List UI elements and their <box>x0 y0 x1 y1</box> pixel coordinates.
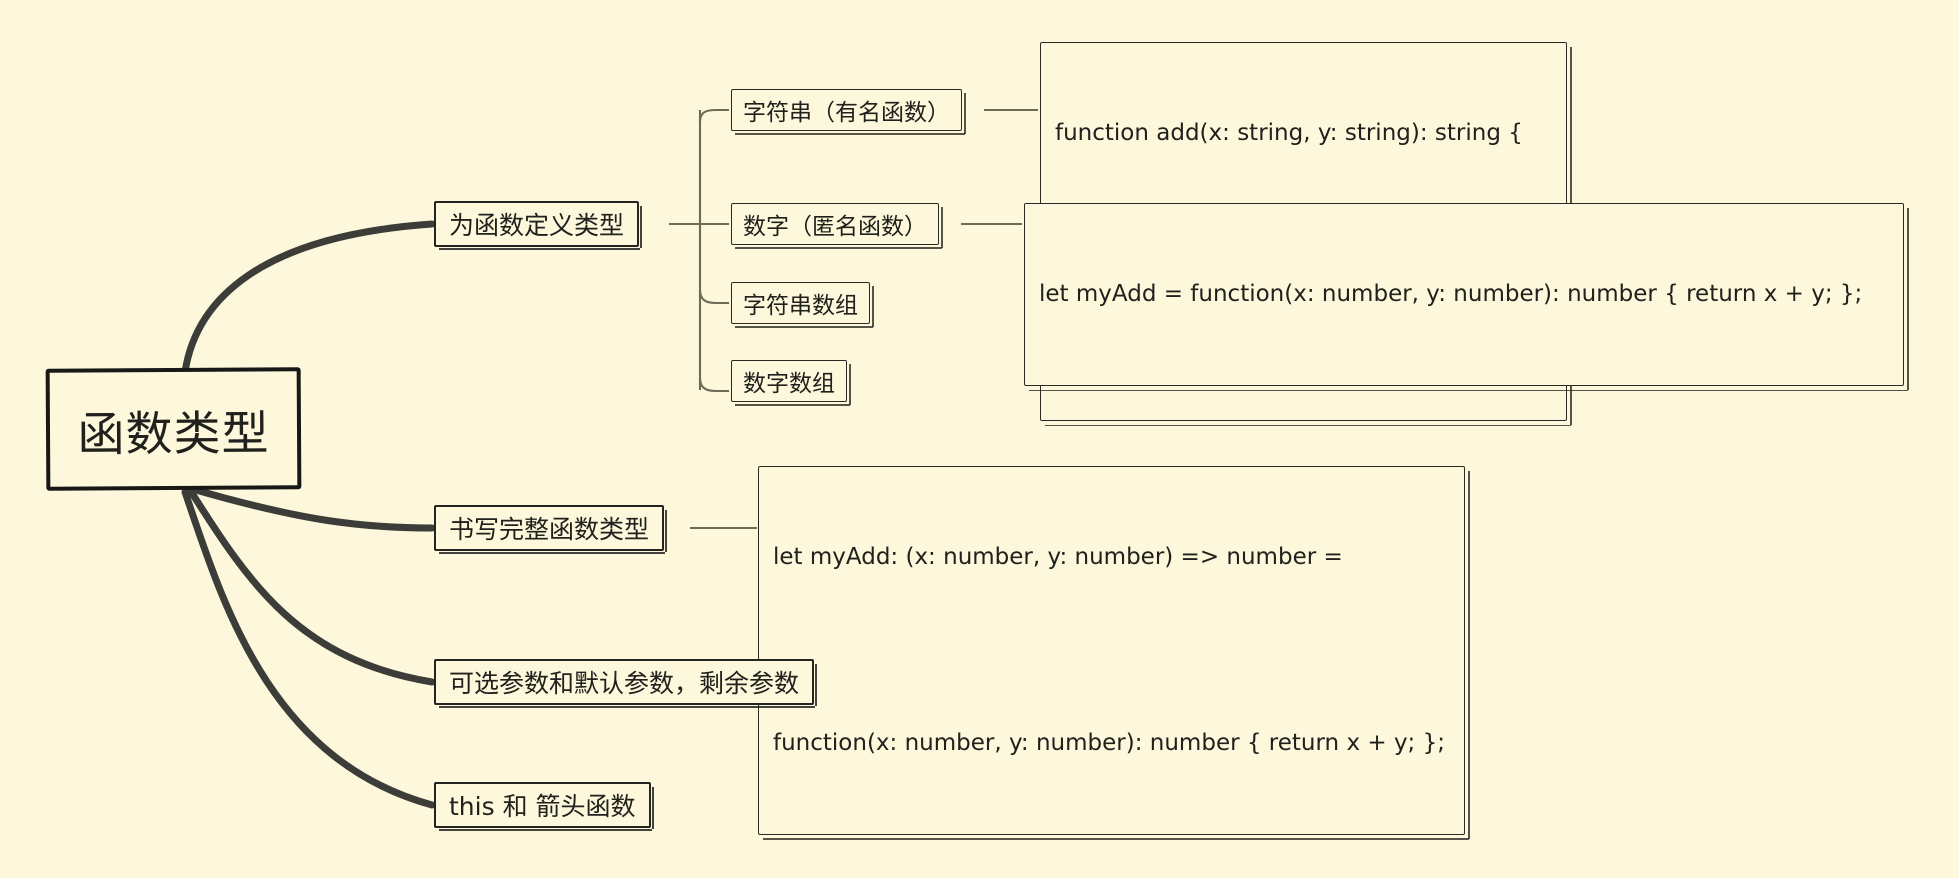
branch-label: 可选参数和默认参数，剩余参数 <box>449 664 799 700</box>
code-line: let myAdd = function(x: number, y: numbe… <box>1039 278 1889 311</box>
branch-label: 为函数定义类型 <box>449 206 624 242</box>
code-blank-line <box>773 639 1450 661</box>
branch-define-function-types[interactable]: 为函数定义类型 <box>434 201 639 247</box>
root-topic-label: 函数类型 <box>77 394 269 464</box>
branch-optional-default-rest-params[interactable]: 可选参数和默认参数，剩余参数 <box>434 659 814 705</box>
branch-write-full-function-type[interactable]: 书写完整函数类型 <box>434 505 664 551</box>
leaf-number-anonymous-function[interactable]: 数字（匿名函数） <box>731 203 939 245</box>
branch-label: 书写完整函数类型 <box>449 510 649 546</box>
leaf-label: 字符串（有名函数） <box>743 93 950 127</box>
code-line: function add(x: string, y: string): stri… <box>1055 117 1552 150</box>
leaf-label: 数字数组 <box>743 364 835 398</box>
code-block-full-function-type[interactable]: let myAdd: (x: number, y: number) => num… <box>758 466 1465 835</box>
leaf-number-array[interactable]: 数字数组 <box>731 360 847 402</box>
leaf-string-array[interactable]: 字符串数组 <box>731 282 870 324</box>
root-topic[interactable]: 函数类型 <box>46 367 302 491</box>
mindmap-canvas: 函数类型 为函数定义类型 字符串（有名函数） 数字（匿名函数） 字符串数组 数字… <box>0 0 1959 878</box>
leaf-label: 字符串数组 <box>743 286 858 320</box>
code-block-anonymous-function[interactable]: let myAdd = function(x: number, y: numbe… <box>1024 203 1904 386</box>
leaf-label: 数字（匿名函数） <box>743 207 927 241</box>
branch-this-and-arrow-functions[interactable]: this 和 箭头函数 <box>434 782 651 828</box>
branch-label: this 和 箭头函数 <box>449 787 636 823</box>
code-line: function(x: number, y: number): number {… <box>773 727 1450 760</box>
code-line: let myAdd: (x: number, y: number) => num… <box>773 541 1450 574</box>
leaf-string-named-function[interactable]: 字符串（有名函数） <box>731 89 962 131</box>
